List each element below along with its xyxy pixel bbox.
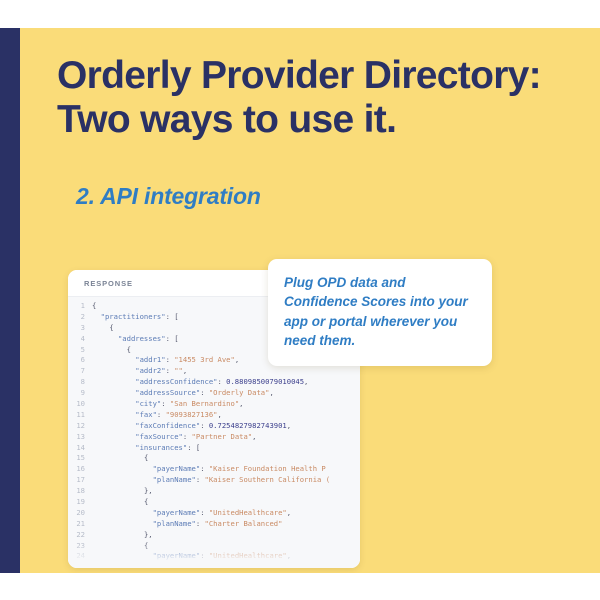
code-line-number: 21	[68, 519, 92, 530]
code-line: 12 "faxConfidence": 0.7254827982743901,	[68, 421, 360, 432]
code-line-number: 4	[68, 334, 92, 345]
code-line-text: {	[92, 345, 131, 356]
code-line: 15 {	[68, 453, 360, 464]
code-line: 17 "planName": "Kaiser Southern Californ…	[68, 475, 360, 486]
code-line-text: "fax": "9093827136",	[92, 410, 222, 421]
code-line-text: "addresses": [	[92, 334, 179, 345]
code-line-number: 6	[68, 355, 92, 366]
code-line-text: "faxSource": "Partner Data",	[92, 432, 256, 443]
code-line-text: {	[92, 301, 96, 312]
code-line-number: 23	[68, 541, 92, 552]
code-line: 18 },	[68, 486, 360, 497]
code-line-text: {	[92, 323, 114, 334]
code-line: 23 {	[68, 541, 360, 552]
callout-box: Plug OPD data and Confidence Scores into…	[268, 259, 492, 366]
code-line-number: 2	[68, 312, 92, 323]
code-line-number: 5	[68, 345, 92, 356]
page-title: Orderly Provider Directory: Two ways to …	[57, 54, 577, 142]
code-line-number: 17	[68, 475, 92, 486]
code-line-text: },	[92, 530, 153, 541]
code-line: 10 "city": "San Bernardino",	[68, 399, 360, 410]
code-line-text: "addr1": "1455 3rd Ave",	[92, 355, 239, 366]
code-line-text: "payerName": "Kaiser Foundation Health P	[92, 464, 326, 475]
page-title-line-1: Orderly Provider Directory:	[57, 54, 577, 98]
code-line: 21 "planName": "Charter Balanced"	[68, 519, 360, 530]
callout-text-part-1: Plug OPD data and	[284, 275, 406, 290]
code-line-number: 22	[68, 530, 92, 541]
code-line-text: {	[92, 541, 148, 552]
code-line-text: "city": "San Bernardino",	[92, 399, 243, 410]
code-line-number: 3	[68, 323, 92, 334]
code-line-text: "addressSource": "Orderly Data",	[92, 388, 274, 399]
code-line-text: "addressConfidence": 0.8809850079010045,	[92, 377, 308, 388]
code-line: 20 "payerName": "UnitedHealthcare",	[68, 508, 360, 519]
code-line-text: "planName": "Kaiser Southern California …	[92, 475, 330, 486]
code-line-number: 16	[68, 464, 92, 475]
code-line-number: 20	[68, 508, 92, 519]
code-line-text: "insurances": [	[92, 443, 200, 454]
callout-text-bold: Confidence Scores	[284, 294, 406, 309]
response-label: RESPONSE	[84, 279, 133, 288]
code-line-number: 11	[68, 410, 92, 421]
code-line-text: {	[92, 453, 148, 464]
code-line-text: "planName": "Charter Balanced"	[92, 519, 282, 530]
left-accent-bar	[0, 28, 20, 573]
code-line: 24 "payerName": "UnitedHealthcare",	[68, 551, 360, 562]
code-line-number: 1	[68, 301, 92, 312]
code-line-text: "payerName": "UnitedHealthcare",	[92, 508, 291, 519]
code-line: 7 "addr2": "",	[68, 366, 360, 377]
page-title-line-2: Two ways to use it.	[57, 98, 577, 142]
code-line: 9 "addressSource": "Orderly Data",	[68, 388, 360, 399]
code-line-number: 14	[68, 443, 92, 454]
code-line-number: 10	[68, 399, 92, 410]
code-line: 22 },	[68, 530, 360, 541]
code-line-text: "addr2": "",	[92, 366, 187, 377]
code-line-number: 24	[68, 551, 92, 562]
code-line-number: 18	[68, 486, 92, 497]
code-line: 19 {	[68, 497, 360, 508]
code-line-text: "faxConfidence": 0.7254827982743901,	[92, 421, 291, 432]
code-line-text: },	[92, 486, 153, 497]
code-line-text: "practitioners": [	[92, 312, 179, 323]
code-line-number: 15	[68, 453, 92, 464]
code-line: 13 "faxSource": "Partner Data",	[68, 432, 360, 443]
code-line: 16 "payerName": "Kaiser Foundation Healt…	[68, 464, 360, 475]
code-line-text: {	[92, 497, 148, 508]
slide-canvas: Orderly Provider Directory: Two ways to …	[0, 28, 600, 573]
code-line: 8 "addressConfidence": 0.880985007901004…	[68, 377, 360, 388]
code-line-number: 7	[68, 366, 92, 377]
code-line-number: 19	[68, 497, 92, 508]
code-line-number: 8	[68, 377, 92, 388]
section-subtitle: 2. API integration	[76, 183, 261, 210]
code-line-text: "payerName": "UnitedHealthcare",	[92, 551, 291, 562]
code-line: 14 "insurances": [	[68, 443, 360, 454]
code-line-number: 12	[68, 421, 92, 432]
code-line: 11 "fax": "9093827136",	[68, 410, 360, 421]
code-line-number: 13	[68, 432, 92, 443]
code-line-number: 9	[68, 388, 92, 399]
